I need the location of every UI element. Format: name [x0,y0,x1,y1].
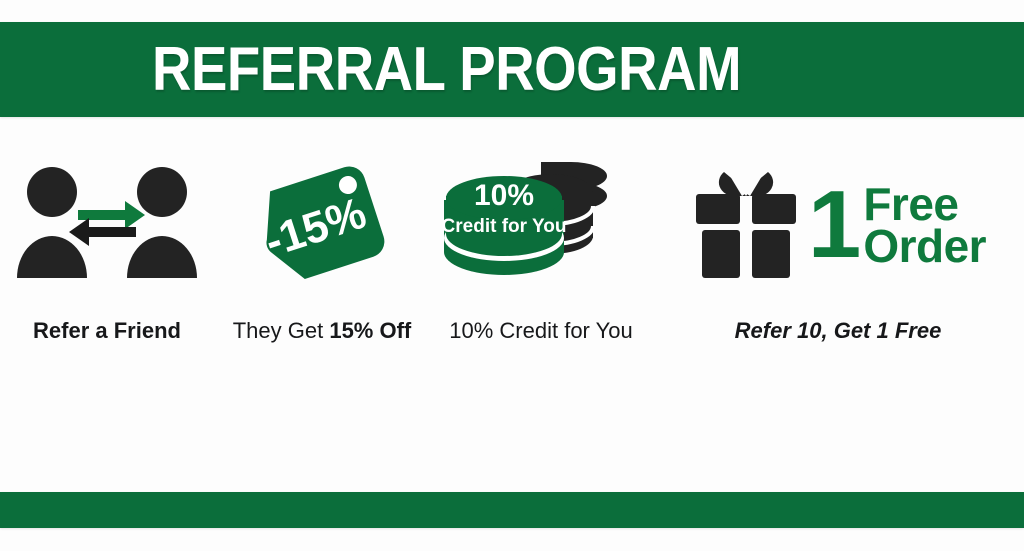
benefit-3-caption: 10% Credit for You [449,318,632,344]
price-tag-icon: -15% [247,155,397,295]
header-banner: REFERRAL PROGRAM [0,22,1024,117]
benefit-refer-a-friend: Refer a Friend [0,150,214,400]
coin-credit-label: Credit for You [442,216,567,237]
free-order-text-block: 1 Free Order [808,177,986,273]
benefit-4-caption: Refer 10, Get 1 Free [735,318,942,344]
coin-percent-label: 10% [474,179,534,212]
gift-box-icon [690,166,802,284]
benefit-1-caption: Refer a Friend [33,318,181,344]
benefit-2-caption: They Get 15% Off [233,318,412,344]
free-order-line-1: Free [863,183,986,225]
referral-program-infographic: REFERRAL PROGRAM [0,0,1024,551]
benefit-2-caption-prefix: They Get [233,318,330,343]
benefit-3-artwork: 10% Credit for You [441,150,641,300]
benefit-refer-10-get-1-free: 1 Free Order Refer 10, Get 1 Free [652,150,1024,400]
coin-stack-icon: 10% Credit for You [441,160,641,290]
two-people-exchange-icon [12,160,202,290]
page-title: REFERRAL PROGRAM [152,39,741,101]
benefit-10-percent-credit: 10% Credit for You 10% Credit for You [430,150,652,400]
benefit-2-artwork: -15% [247,150,397,300]
benefit-1-artwork [12,150,202,300]
free-order-line-2: Order [863,225,986,267]
free-order-number: 1 [808,177,859,273]
benefit-they-get-15-off: -15% They Get 15% Off [214,150,430,400]
benefit-2-caption-strong: 15% Off [329,318,411,343]
benefits-row: Refer a Friend -15% They Get 15% Off [0,150,1024,400]
benefit-4-artwork: 1 Free Order [673,150,1003,300]
footer-banner [0,492,1024,528]
